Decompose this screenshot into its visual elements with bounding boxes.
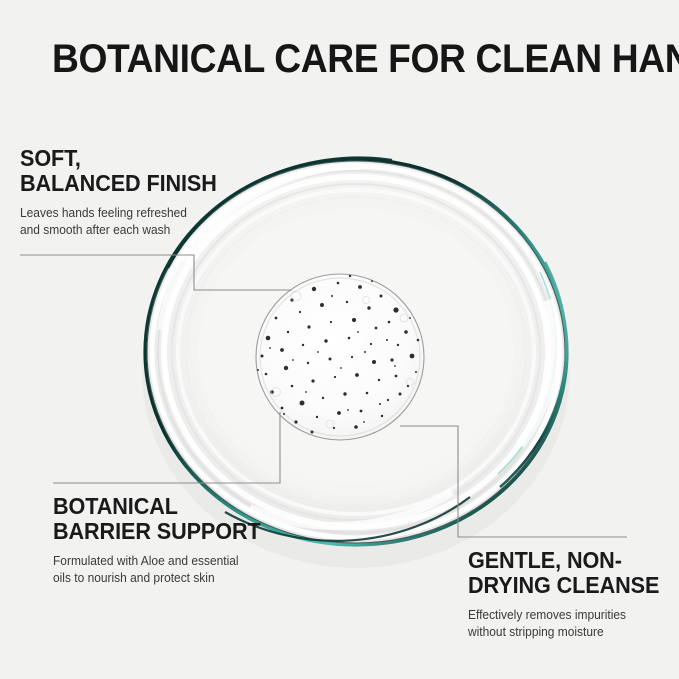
product-infographic: BOTANICAL CARE FOR CLEAN HANDS SOFT, BAL… [0, 0, 679, 679]
callout-headline: BOTANICAL BARRIER SUPPORT [53, 494, 288, 544]
callout-body: Leaves hands feeling refreshed and smoot… [20, 205, 239, 238]
gel-specks [255, 275, 420, 441]
leader-line-gentle [400, 426, 627, 537]
rim-glow-right [498, 272, 556, 474]
callout-headline: SOFT, BALANCED FINISH [20, 146, 236, 196]
callout-body: Effectively removes impurities without s… [468, 607, 672, 640]
callout-headline: GENTLE, NON- DRYING CLEANSE [468, 548, 670, 598]
gel-bubbles [272, 291, 414, 428]
speckled-gel-blob [255, 274, 424, 441]
page-title: BOTANICAL CARE FOR CLEAN HANDS [52, 37, 601, 81]
callout-botanical-barrier-support: BOTANICAL BARRIER SUPPORT Formulated wit… [53, 494, 303, 586]
leader-line-soft [20, 255, 292, 290]
callout-gentle-non-drying-cleanse: GENTLE, NON- DRYING CLEANSE Effectively … [468, 548, 679, 640]
callout-body: Formulated with Aloe and essential oils … [53, 553, 291, 586]
rim-highlight-right [500, 262, 566, 487]
dish-inner-floor [198, 208, 514, 496]
leader-line-botanical [53, 412, 280, 483]
callout-soft-balanced-finish: SOFT, BALANCED FINISH Leaves hands feeli… [20, 146, 250, 238]
